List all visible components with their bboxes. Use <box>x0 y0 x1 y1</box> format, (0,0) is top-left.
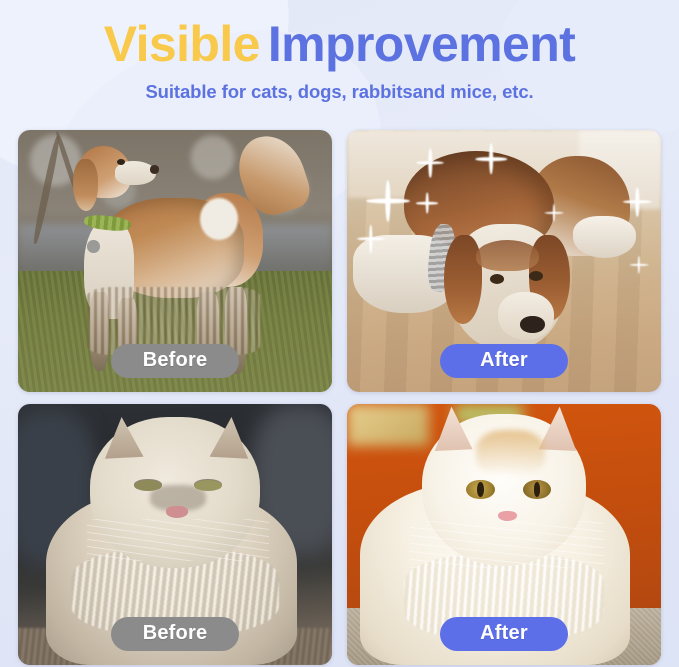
panel-dog-after: After <box>347 130 661 392</box>
badge-after: After <box>440 617 568 651</box>
header: VisibleImprovement Suitable for cats, do… <box>0 0 679 103</box>
panel-cat-after: After <box>347 404 661 665</box>
badge-before: Before <box>111 617 239 651</box>
panel-dog-before: Before <box>18 130 332 392</box>
page-title: VisibleImprovement <box>0 18 679 71</box>
panel-cat-before: Before <box>18 404 332 665</box>
title-word-visible: Visible <box>104 16 260 72</box>
page-subtitle: Suitable for cats, dogs, rabbitsand mice… <box>0 81 679 103</box>
badge-after: After <box>440 344 568 378</box>
title-word-improvement: Improvement <box>268 16 575 72</box>
comparison-grid: Before <box>18 130 661 665</box>
badge-before: Before <box>111 344 239 378</box>
promo-page: VisibleImprovement Suitable for cats, do… <box>0 0 679 667</box>
